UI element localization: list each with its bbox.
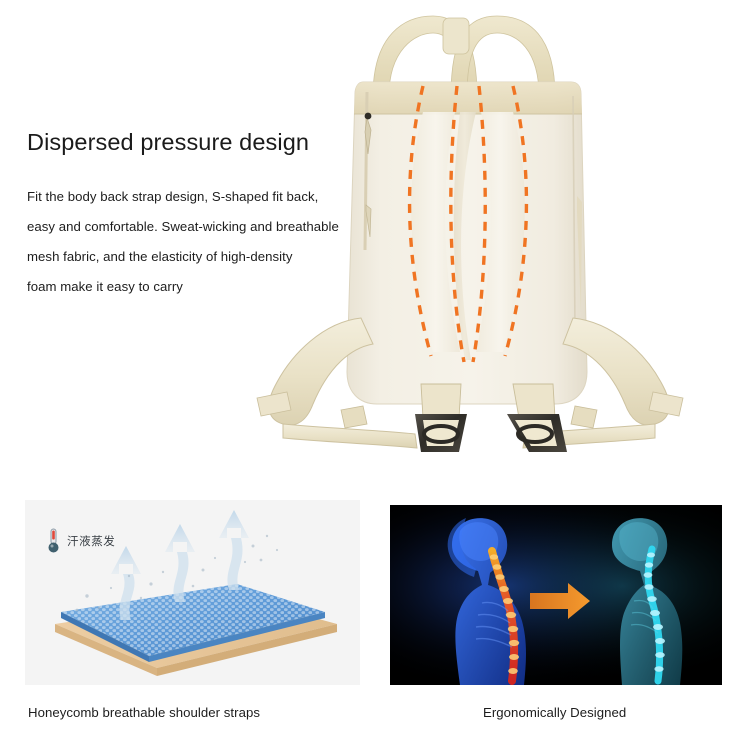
product-detail-slide: Dispersed pressure design Fit the body b… bbox=[0, 0, 750, 750]
top-trim bbox=[354, 82, 582, 114]
body-line-3: mesh fabric, and the elasticity of high-… bbox=[27, 242, 377, 272]
body-line-2: easy and comfortable. Sweat-wicking and … bbox=[27, 212, 377, 242]
honeycomb-caption: Honeycomb breathable shoulder straps bbox=[28, 705, 260, 720]
body-line-4: foam make it easy to carry bbox=[27, 272, 377, 302]
honeycomb-panel: 汗液蒸发 bbox=[25, 500, 360, 685]
body-line-1: Fit the body back strap design, S-shaped… bbox=[27, 182, 377, 212]
body-paragraph: Fit the body back strap design, S-shaped… bbox=[27, 182, 377, 302]
thermometer-icon bbox=[47, 528, 60, 554]
text-block: Dispersed pressure design Fit the body b… bbox=[27, 128, 377, 302]
ergonomic-panel bbox=[390, 505, 722, 685]
sweat-evaporation-label: 汗液蒸发 bbox=[67, 533, 115, 549]
sweat-evaporation-badge: 汗液蒸发 bbox=[47, 528, 115, 554]
buckle-left bbox=[415, 384, 467, 452]
page-title: Dispersed pressure design bbox=[27, 128, 377, 156]
ergonomic-caption: Ergonomically Designed bbox=[483, 705, 626, 720]
